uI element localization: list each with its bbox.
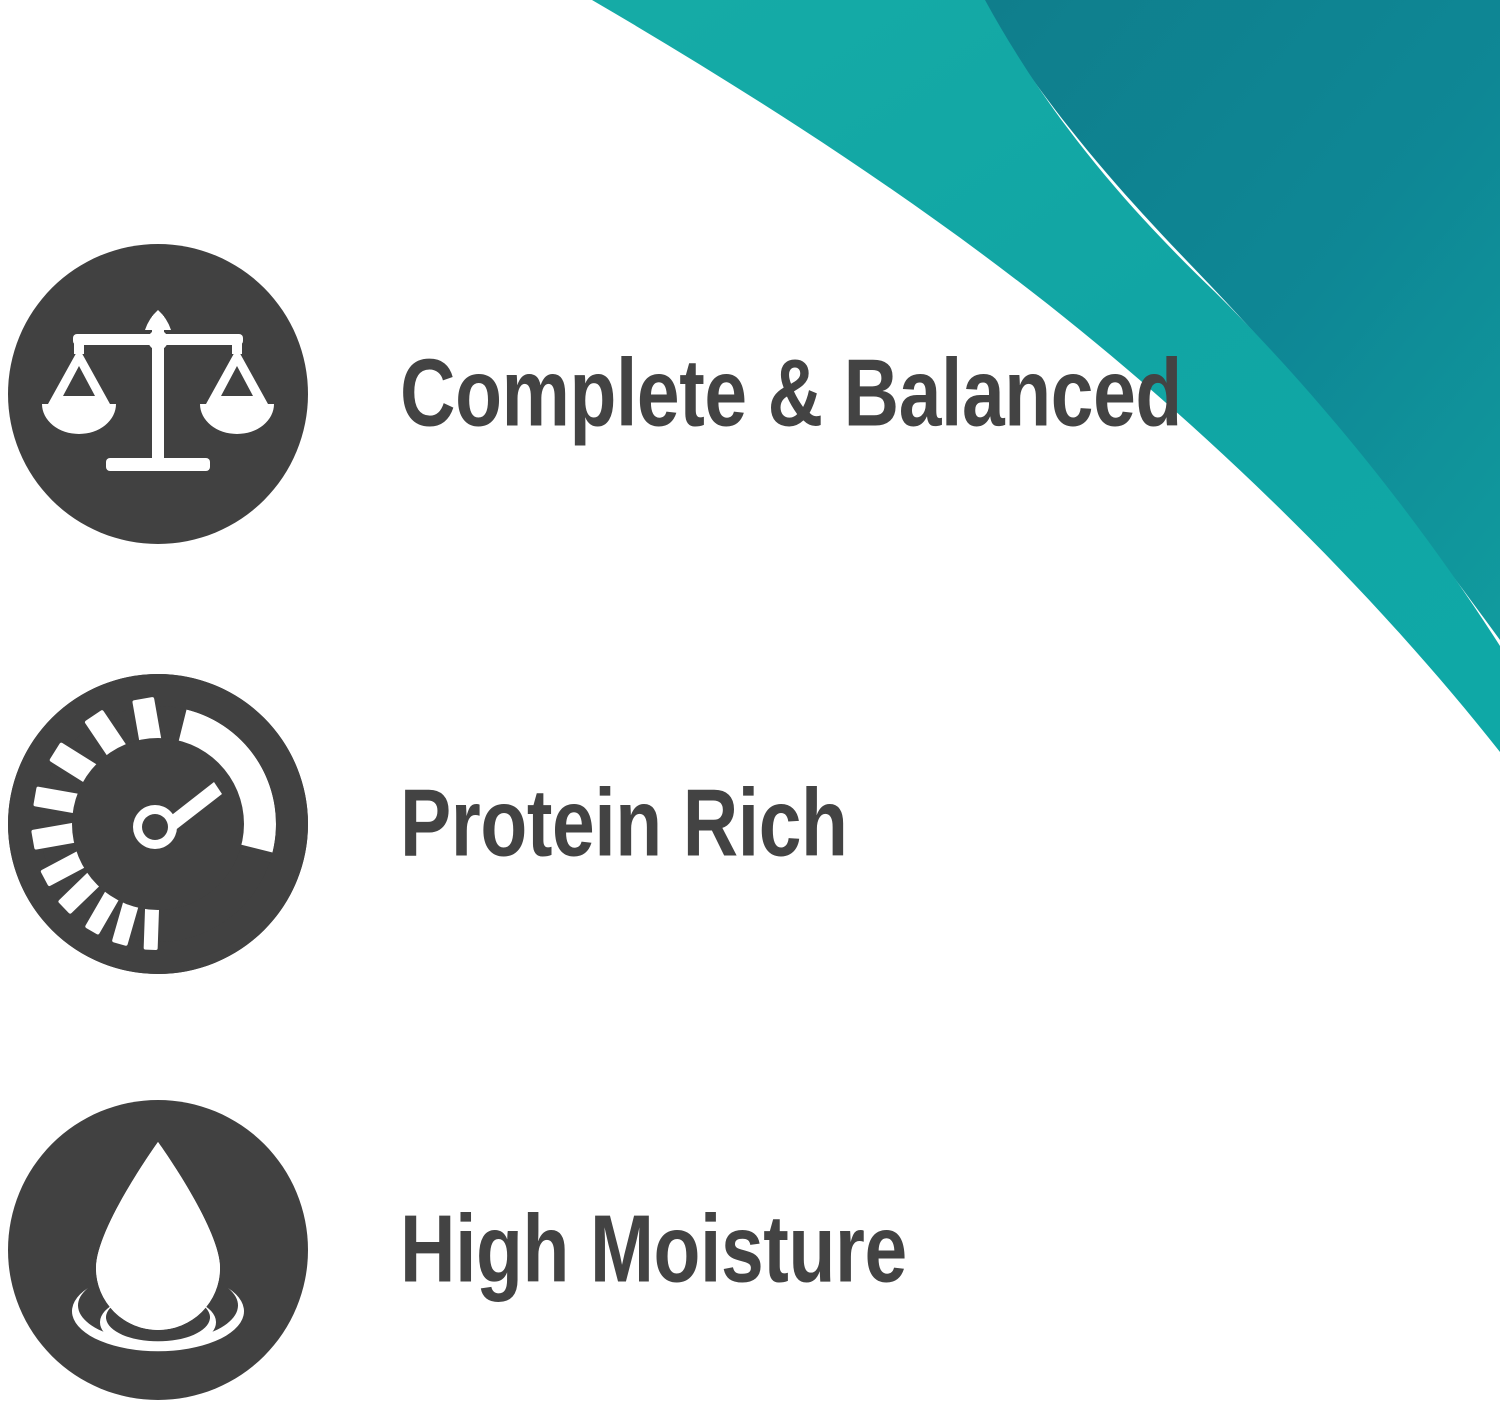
feature-row: High Moisture — [0, 1100, 1500, 1400]
feature-row: Complete & Balanced — [0, 244, 1500, 544]
gauge-meter-icon — [8, 674, 308, 974]
balance-scale-icon — [8, 244, 308, 544]
gauge-meter-glyph — [8, 674, 308, 974]
water-droplet-glyph — [8, 1100, 308, 1400]
feature-label: Complete & Balanced — [400, 344, 1182, 445]
feature-highlights-panel: Complete & Balanced — [0, 0, 1500, 1411]
water-droplet-icon — [8, 1100, 308, 1400]
feature-label: Protein Rich — [400, 774, 848, 875]
feature-label: High Moisture — [400, 1200, 907, 1301]
balance-scale-glyph — [8, 244, 308, 544]
feature-row: Protein Rich — [0, 674, 1500, 974]
